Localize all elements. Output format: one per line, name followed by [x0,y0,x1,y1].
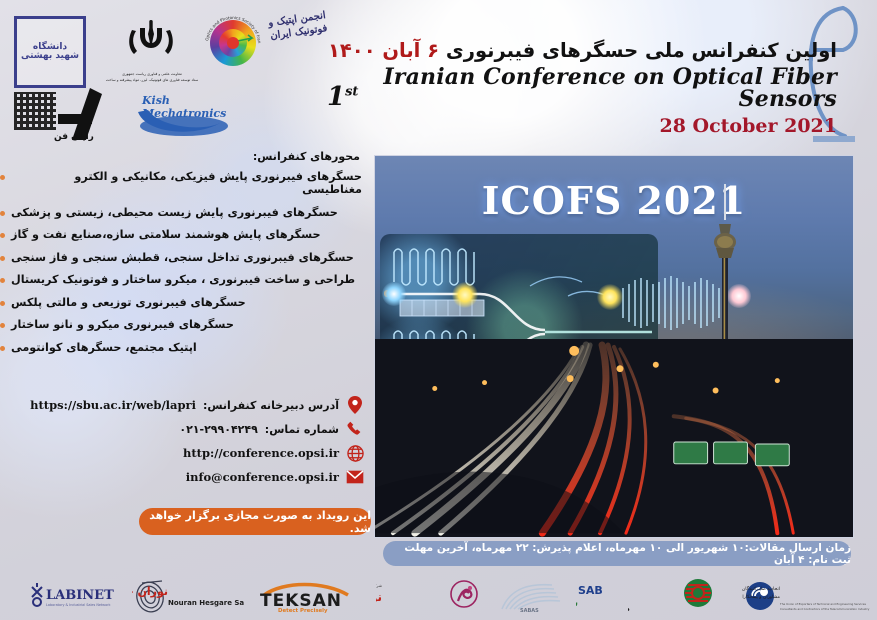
globe-icon [346,444,364,462]
logo-rayan-fan: رایان فن [14,88,124,144]
conference-poster: دانشگاه شهید بهشتی معاونت علمی و فناوری … [0,0,877,620]
en-date: 28 October 2021 [327,115,837,137]
rayan-qr-pattern [14,92,56,130]
envelope-icon [346,468,364,486]
sbu-logo-label: دانشگاه شهید بهشتی [20,43,80,62]
bullet-icon [0,323,5,328]
topic-item: اپتیک مجتمع، حسگرهای کوانتومی [0,341,362,354]
svg-text:SABAS: SABAS [520,608,539,613]
fa-title: اولین کنفرانس ملی حسگرهای فیبرنوری ۶ آبا… [327,40,837,62]
topic-label: حسگرهای فیبرنوری میکرو و نانو ساختار [11,318,234,331]
virtual-event-badge: این رویداد به صورت مجازی برگزار خواهد شد… [139,508,371,535]
en-ordinal: 1st [327,84,358,110]
topic-item: حسگرهای فیبرنوری میکرو و نانو ساختار [0,318,362,331]
fa-title-main: اولین کنفرانس ملی حسگرهای فیبرنوری [446,39,837,62]
important-dates-text: زمان ارسال مقالات:۱۰ شهریور الی ۱۰ مهرما… [383,542,851,566]
top-logo-row: دانشگاه شهید بهشتی معاونت علمی و فناوری … [0,0,372,148]
bullet-icon [0,233,5,238]
topic-item: حسگرهای پایش هوشمند سلامتی سازه،صنایع نف… [0,228,362,241]
topic-label: اپتیک مجتمع، حسگرهای کوانتومی [11,341,197,354]
logo-noavar-hooshmand: شرکت دانش بنیان نوآور هوشمند [376,576,486,616]
conference-hero-image: ICOFS 2021 [374,155,854,538]
bullet-icon [0,256,5,261]
contact-row-phone: شماره تماس: ۰۲۱-۲۹۹۰۴۲۴۹ [0,420,364,438]
topic-label: حسگرهای فیبرنوری تداخل سنجی، قطبش سنجی و… [11,251,354,264]
logo-kish-mechatronics: Kish Mechatronics [136,92,232,140]
phone-icon [346,420,364,438]
en-ordinal-suffix: st [345,85,358,100]
contact-row-address: آدرس دبیرخانه کنفرانس: https://sbu.ac.ir… [0,396,364,414]
logo-technical-engineering-services-union: اتحادیه صادرکنندگان خدمات فنی مهندسی مشا… [742,576,870,616]
virtual-event-label: این رویداد به صورت مجازی برگزار خواهد شد… [139,509,371,535]
highway-light-trails [375,339,853,537]
svg-text:نوران حسگر صبا: نوران حسگر صبا [132,585,168,598]
logo-labinet: LABINET Laboratory & Industrial Sales Ne… [26,576,122,616]
svg-text:Laboratory & Industrial Sales: Laboratory & Industrial Sales Network [46,603,111,607]
svg-text:Consultants and Contractors of: Consultants and Contractors of the Telec… [780,607,870,611]
svg-text:مشاوران و پیمانکاران صنعت مخاب: مشاوران و پیمانکاران صنعت مخابرات ایران [742,594,781,600]
bullet-icon [0,175,5,180]
bullet-icon [0,211,5,216]
svg-text:Nouran Hesgare Saba: Nouran Hesgare Saba [168,599,244,607]
topic-item: حسگرهای فیبرنوری پایش فیزیکی، مکانیکی و … [0,170,362,197]
topic-item: طراحی و ساخت فیبرنوری ، میکرو ساختار و ف… [0,273,362,286]
icofs-headline: ICOFS 2021 [375,178,853,223]
bullet-icon [0,346,5,351]
contact-phone-label: شماره تماس: [265,423,339,436]
topics-heading: محورهای کنفرانس: [0,150,360,163]
svg-text:The Union of Exporters of Tech: The Union of Exporters of Technical and … [779,602,866,606]
bullet-icon [0,301,5,306]
svg-text:مجتمع صنعتی رفسنجان: مجتمع صنعتی رفسنجان [628,604,630,614]
logo-iran-emblem [120,18,182,70]
contact-block: آدرس دبیرخانه کنفرانس: https://sbu.ac.ir… [0,396,372,492]
contact-row-email: info@conference.opsi.ir [0,468,364,486]
topic-item: حسگرهای فیبرنوری پایش زیست محیطی، زیستی … [0,206,362,219]
sponsor-logo-row: LABINET Laboratory & Industrial Sales Ne… [0,572,877,620]
contact-row-website: http://conference.opsi.ir [0,444,364,462]
fa-title-date: ۶ آبان ۱۴۰۰ [328,39,439,62]
anjoman-label: انجمن اپتیک و فوتونیک ایران [267,10,330,43]
poster-header: اولین کنفرانس ملی حسگرهای فیبرنوری ۶ آبا… [327,40,837,137]
topic-label: حسگرهای فیبرنوری پایش زیست محیطی، زیستی … [11,206,338,219]
contact-address-label: آدرس دبیرخانه کنفرانس: [203,399,339,412]
logo-shahid-beheshti-university: دانشگاه شهید بهشتی [14,16,86,88]
logo-iran-photonics-association: انجمن اپتیک و فوتونیک ایران [268,14,328,70]
topic-label: حسگرهای فیبرنوری پایش فیزیکی، مکانیکی و … [11,170,362,197]
svg-text:اتحادیه صادرکنندگان خدمات فنی: اتحادیه صادرکنندگان خدمات فنی مهندسی [742,585,780,592]
green-light-glow [597,284,623,310]
topic-label: طراحی و ساخت فیبرنوری ، میکرو ساختار و ف… [11,273,355,286]
en-title: Iranian Conference on Optical Fiber Sens… [360,66,837,110]
logo-nouran-hesgare-saba: نوران حسگر صبا Nouran Hesgare Saba [132,576,244,616]
svg-text:نوآور هوشمند: نوآور هوشمند [376,589,382,605]
important-dates-strip: زمان ارسال مقالات:۱۰ شهریور الی ۱۰ مهرما… [383,541,851,566]
conference-topics: محورهای کنفرانس: حسگرهای فیبرنوری پایش ف… [0,150,372,363]
svg-text:Detect Precisely: Detect Precisely [278,608,328,613]
logo-iran-emblem-caption: معاونت علمی و فناوری ریاست جمهوری ستاد ت… [104,72,200,84]
topic-label: حسگرهای پایش هوشمند سلامتی سازه،صنایع نف… [11,228,321,241]
logo-optics-photonics-society: Optics and Photonics Society of Iran [200,8,266,70]
contact-website-value[interactable]: http://conference.opsi.ir [183,446,339,460]
topic-label: حسگرهای فیبرنوری توزیعی و مالتی پلکس [11,296,246,309]
svg-text:SAB: SAB [578,584,603,597]
logo-sabz: SAB سبز [576,576,618,616]
logo-teksan: TEKSAN Detect Precisely [254,576,366,616]
contact-address-value[interactable]: https://sbu.ac.ir/web/lapri [30,398,196,412]
svg-text:LABINET: LABINET [46,588,114,603]
contact-email-value[interactable]: info@conference.opsi.ir [186,470,339,484]
logo-rafsanjan-industrial-complex: مجتمع صنعتی رفسنجان [628,576,732,616]
logo-sabas: SABAS [496,576,566,616]
location-pin-icon [346,396,364,414]
svg-text:سبز: سبز [576,599,578,609]
bullet-icon [0,278,5,283]
svg-text:شرکت دانش بنیان: شرکت دانش بنیان [376,583,383,588]
topic-item: حسگرهای فیبرنوری تداخل سنجی، قطبش سنجی و… [0,251,362,264]
rayan-label: رایان فن [54,132,94,142]
topic-item: حسگرهای فیبرنوری توزیعی و مالتی پلکس [0,296,362,309]
contact-phone-value[interactable]: ۰۲۱-۲۹۹۰۴۲۴۹ [179,423,257,436]
iran-caption-line2: ستاد توسعه فناوری های فوتونیک، لیزر، موا… [104,78,200,84]
